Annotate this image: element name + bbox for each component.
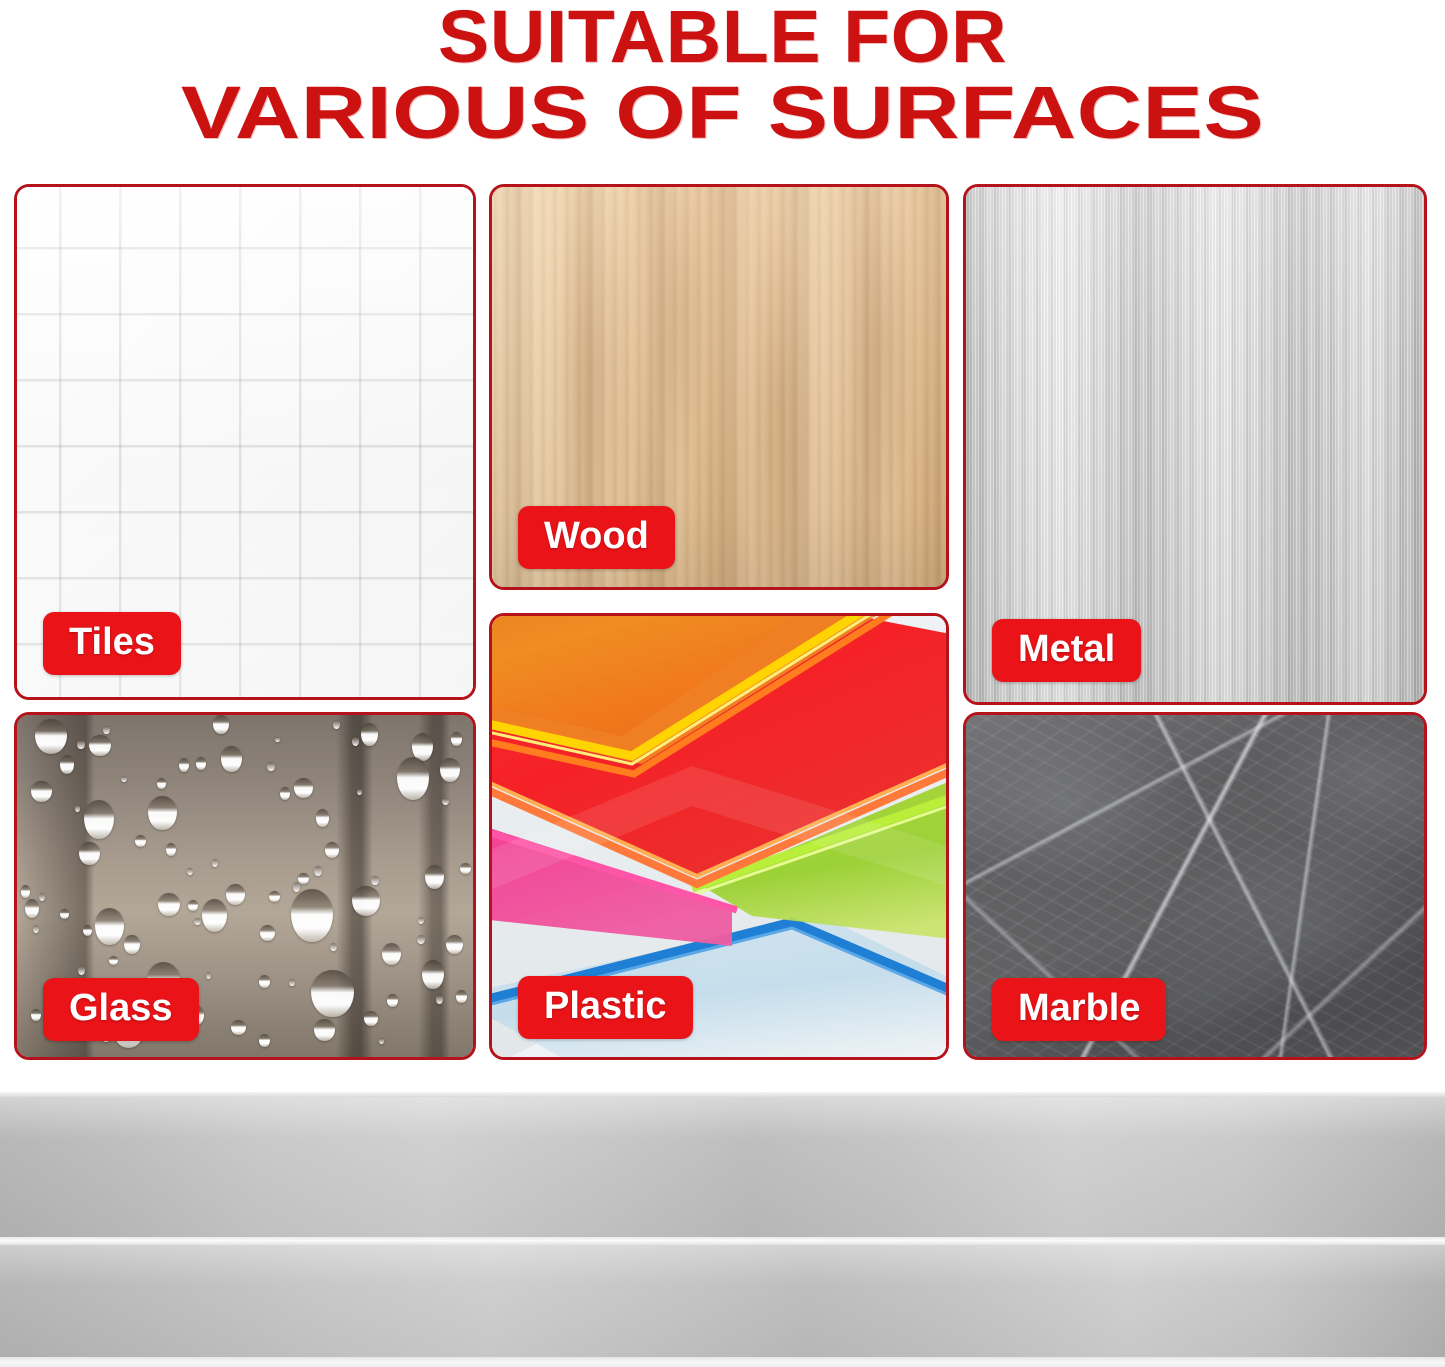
surface-label-glass: Glass <box>43 978 199 1041</box>
water-droplet <box>387 994 398 1007</box>
water-droplet <box>294 778 313 798</box>
water-droplet <box>157 778 166 789</box>
surface-panel-tiles[interactable]: Tiles <box>14 184 476 700</box>
water-droplet <box>291 889 333 943</box>
surface-label-wood: Wood <box>518 506 675 569</box>
surface-panel-wood[interactable]: Wood <box>489 184 949 590</box>
water-droplet <box>212 859 219 867</box>
water-droplet <box>451 732 462 746</box>
product-edge-bottom-highlight <box>0 1357 1445 1367</box>
surface-label-metal: Metal <box>992 619 1141 682</box>
water-droplet <box>31 781 52 803</box>
water-droplet <box>95 908 124 945</box>
water-droplet <box>442 798 449 805</box>
product-edge-lower-band <box>0 1245 1445 1357</box>
surface-label-tiles: Tiles <box>43 612 181 675</box>
water-droplet <box>289 979 295 986</box>
water-droplet <box>21 885 31 898</box>
water-droplet <box>357 789 362 795</box>
product-edge-divider <box>0 1237 1445 1245</box>
water-droplet <box>231 1020 246 1035</box>
surface-label-marble: Marble <box>992 978 1166 1041</box>
water-droplet <box>60 909 69 919</box>
water-droplet <box>379 1038 384 1044</box>
water-droplet <box>206 972 211 979</box>
water-droplet <box>83 925 92 937</box>
water-droplet <box>89 735 111 757</box>
water-droplet <box>275 737 280 742</box>
surface-panel-plastic[interactable]: Plastic <box>489 613 949 1060</box>
water-droplet <box>158 893 179 916</box>
water-droplet <box>298 873 309 885</box>
water-droplet <box>260 925 276 941</box>
water-droplet <box>456 990 467 1004</box>
water-droplet <box>196 757 207 770</box>
water-droplet <box>364 1011 379 1026</box>
water-droplet <box>188 900 198 912</box>
water-droplet <box>440 758 460 782</box>
water-droplet <box>333 720 340 730</box>
water-droplet <box>311 970 354 1018</box>
water-droplet <box>77 740 85 750</box>
water-droplet <box>31 1009 41 1022</box>
water-droplet <box>75 805 81 812</box>
water-droplet <box>446 935 463 954</box>
water-droplet <box>325 842 339 858</box>
water-droplet <box>352 737 359 746</box>
water-droplet <box>361 723 378 746</box>
water-droplet <box>436 995 443 1004</box>
water-droplet <box>124 935 140 955</box>
surface-label-plastic: Plastic <box>518 976 693 1039</box>
water-droplet <box>269 891 280 902</box>
water-droplet <box>39 893 45 901</box>
water-droplet <box>35 719 68 755</box>
water-droplet <box>422 960 443 989</box>
surface-panel-glass[interactable]: Glass <box>14 712 476 1060</box>
water-droplet <box>78 966 85 975</box>
water-droplet <box>148 796 176 830</box>
water-droplet <box>84 800 114 840</box>
product-edge-strip <box>0 1092 1445 1367</box>
page-title-line-1: SUITABLE FOR <box>0 0 1445 72</box>
water-droplet <box>187 868 193 875</box>
surface-panel-marble[interactable]: Marble <box>963 712 1427 1060</box>
water-droplet <box>226 884 245 905</box>
water-droplet <box>425 865 443 889</box>
water-droplet <box>293 882 301 892</box>
water-droplet <box>314 866 322 875</box>
product-edge-upper-band <box>0 1097 1445 1237</box>
water-droplet <box>25 899 39 918</box>
water-droplet <box>259 975 271 988</box>
water-droplet <box>202 899 227 932</box>
water-droplet <box>121 776 127 782</box>
water-droplet <box>371 876 379 886</box>
water-droplet <box>267 762 274 771</box>
water-droplet <box>194 918 201 925</box>
surface-panel-grid: Tiles Wood Metal Glass <box>0 182 1445 1064</box>
water-droplet <box>418 917 425 925</box>
water-droplet <box>135 835 146 847</box>
water-droplet <box>316 809 330 827</box>
water-droplet <box>382 943 401 965</box>
water-droplet <box>417 935 425 945</box>
water-droplet <box>79 842 99 865</box>
water-droplet <box>330 943 337 951</box>
page-title-line-2: VARIOUS OF SURFACES <box>0 72 1445 148</box>
surface-panel-metal[interactable]: Metal <box>963 184 1427 705</box>
water-droplet <box>259 1034 270 1048</box>
page-title: SUITABLE FOR VARIOUS OF SURFACES <box>0 0 1445 147</box>
water-droplet <box>109 956 119 965</box>
water-droplet <box>33 925 40 933</box>
water-droplet <box>314 1019 335 1041</box>
water-droplet <box>103 726 110 734</box>
water-droplet <box>221 746 242 773</box>
water-droplet <box>213 715 229 734</box>
water-droplet <box>179 758 189 772</box>
water-droplet <box>280 787 291 800</box>
water-droplet <box>460 863 471 875</box>
water-droplet <box>166 843 176 856</box>
water-droplet <box>60 755 75 774</box>
water-droplet <box>397 757 430 800</box>
water-droplet <box>352 886 381 916</box>
